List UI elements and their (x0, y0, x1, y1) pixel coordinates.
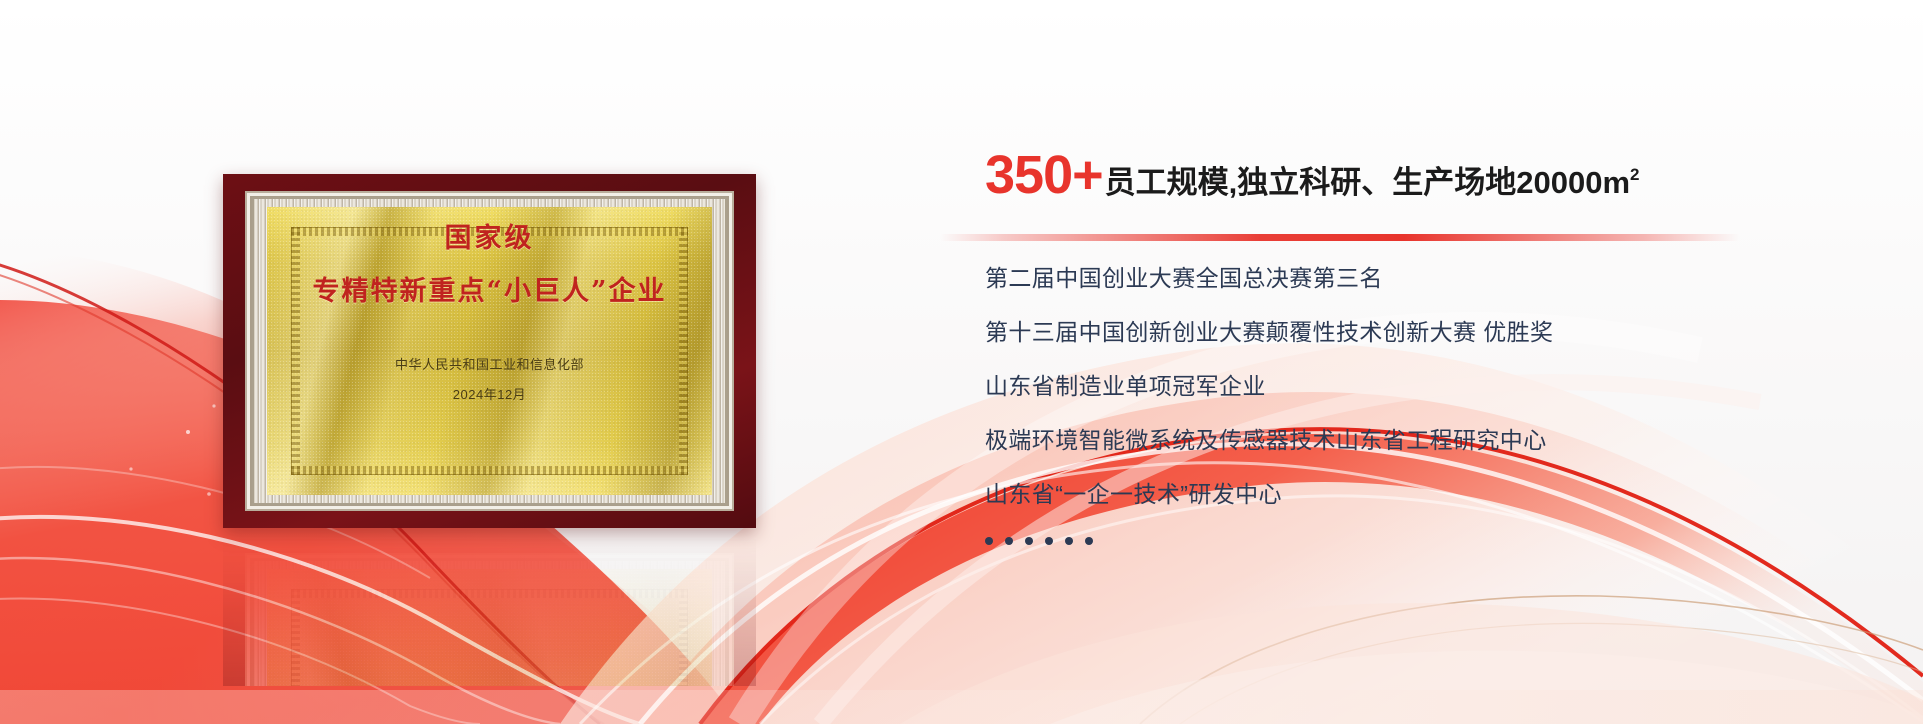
plaque-title-line1: 国家级 (445, 216, 535, 255)
banner-stage: 国家级 专精特新重点“小巨人”企业 中华人民共和国工业和信息化部 2024年12… (0, 0, 1923, 724)
ellipsis-dot (1065, 537, 1073, 545)
plaque-date: 2024年12月 (453, 384, 526, 403)
honors-column: 350+ 员工规模,独立科研、生产场地20000m 2 第二届中国创业大赛全国总… (985, 148, 1885, 545)
headline-underline-rule (940, 234, 1740, 241)
honor-item: 第二届中国创业大赛全国总决赛第三名 (985, 267, 1885, 290)
ellipsis-dot (985, 537, 993, 545)
award-plaque: 国家级 专精特新重点“小巨人”企业 中华人民共和国工业和信息化部 2024年12… (223, 174, 756, 528)
ellipsis-dot (1085, 537, 1093, 545)
ellipsis-dot (1005, 537, 1013, 545)
more-items-ellipsis-icon (985, 537, 1885, 545)
honor-item: 第十三届中国创新创业大赛颠覆性技术创新大赛 优胜奖 (985, 321, 1885, 344)
headline: 350+ 员工规模,独立科研、生产场地20000m 2 (985, 148, 1885, 202)
plaque-issuer: 中华人民共和国工业和信息化部 (395, 354, 584, 373)
honor-item: 山东省制造业单项冠军企业 (985, 375, 1885, 398)
honor-item: 山东省“一企一技术”研发中心 (985, 483, 1885, 506)
ellipsis-dot (1025, 537, 1033, 545)
honor-list: 第二届中国创业大赛全国总决赛第三名 第十三届中国创新创业大赛颠覆性技术创新大赛 … (985, 267, 1885, 545)
ellipsis-dot (1045, 537, 1053, 545)
honor-item: 极端环境智能微系统及传感器技术山东省工程研究中心 (985, 429, 1885, 452)
plaque-title-line2: 专精特新重点“小巨人”企业 (312, 269, 666, 308)
headline-text: 员工规模,独立科研、生产场地20000m (1105, 167, 1630, 198)
headline-superscript: 2 (1630, 165, 1639, 185)
plaque-text-block: 国家级 专精特新重点“小巨人”企业 中华人民共和国工业和信息化部 2024年12… (223, 174, 756, 528)
headline-number: 350+ (985, 148, 1103, 202)
